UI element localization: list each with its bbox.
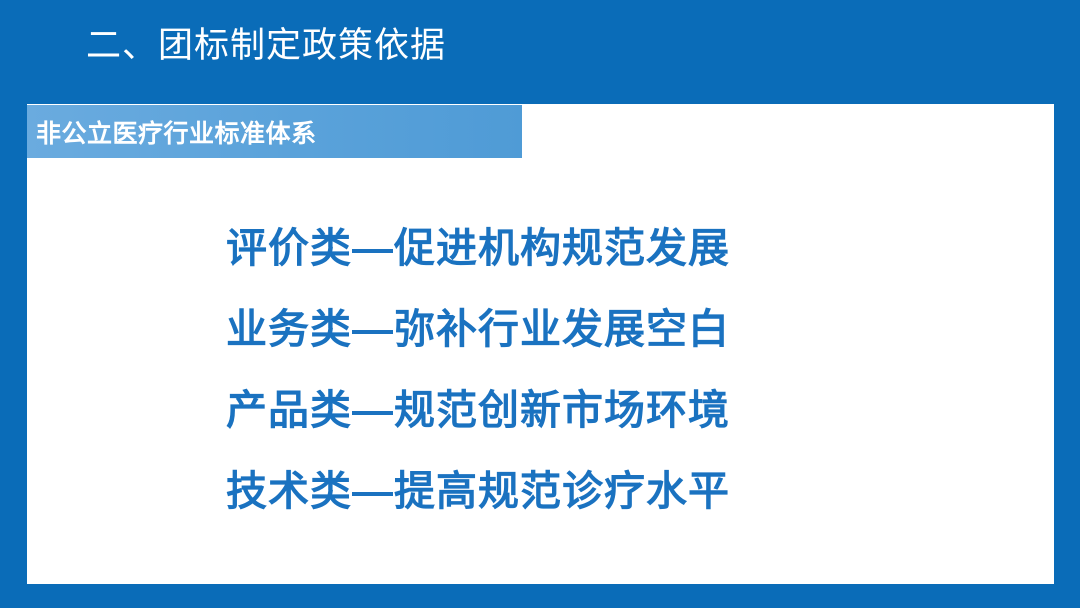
category-item-product: 产品类—规范创新市场环境	[226, 370, 866, 451]
category-item-technology: 技术类—提高规范诊疗水平	[226, 451, 866, 532]
category-list: 评价类—促进机构规范发展 业务类—弥补行业发展空白 产品类—规范创新市场环境 技…	[226, 208, 866, 532]
slide-canvas: 二、团标制定政策依据 非公立医疗行业标准体系 评价类—促进机构规范发展 业务类—…	[0, 0, 1080, 608]
section-banner-label: 非公立医疗行业标准体系	[36, 114, 317, 150]
category-item-business: 业务类—弥补行业发展空白	[226, 289, 866, 370]
section-banner: 非公立医疗行业标准体系	[27, 105, 522, 158]
page-title: 二、团标制定政策依据	[86, 22, 446, 70]
content-card: 非公立医疗行业标准体系 评价类—促进机构规范发展 业务类—弥补行业发展空白 产品…	[27, 104, 1054, 584]
category-item-evaluation: 评价类—促进机构规范发展	[226, 208, 866, 289]
